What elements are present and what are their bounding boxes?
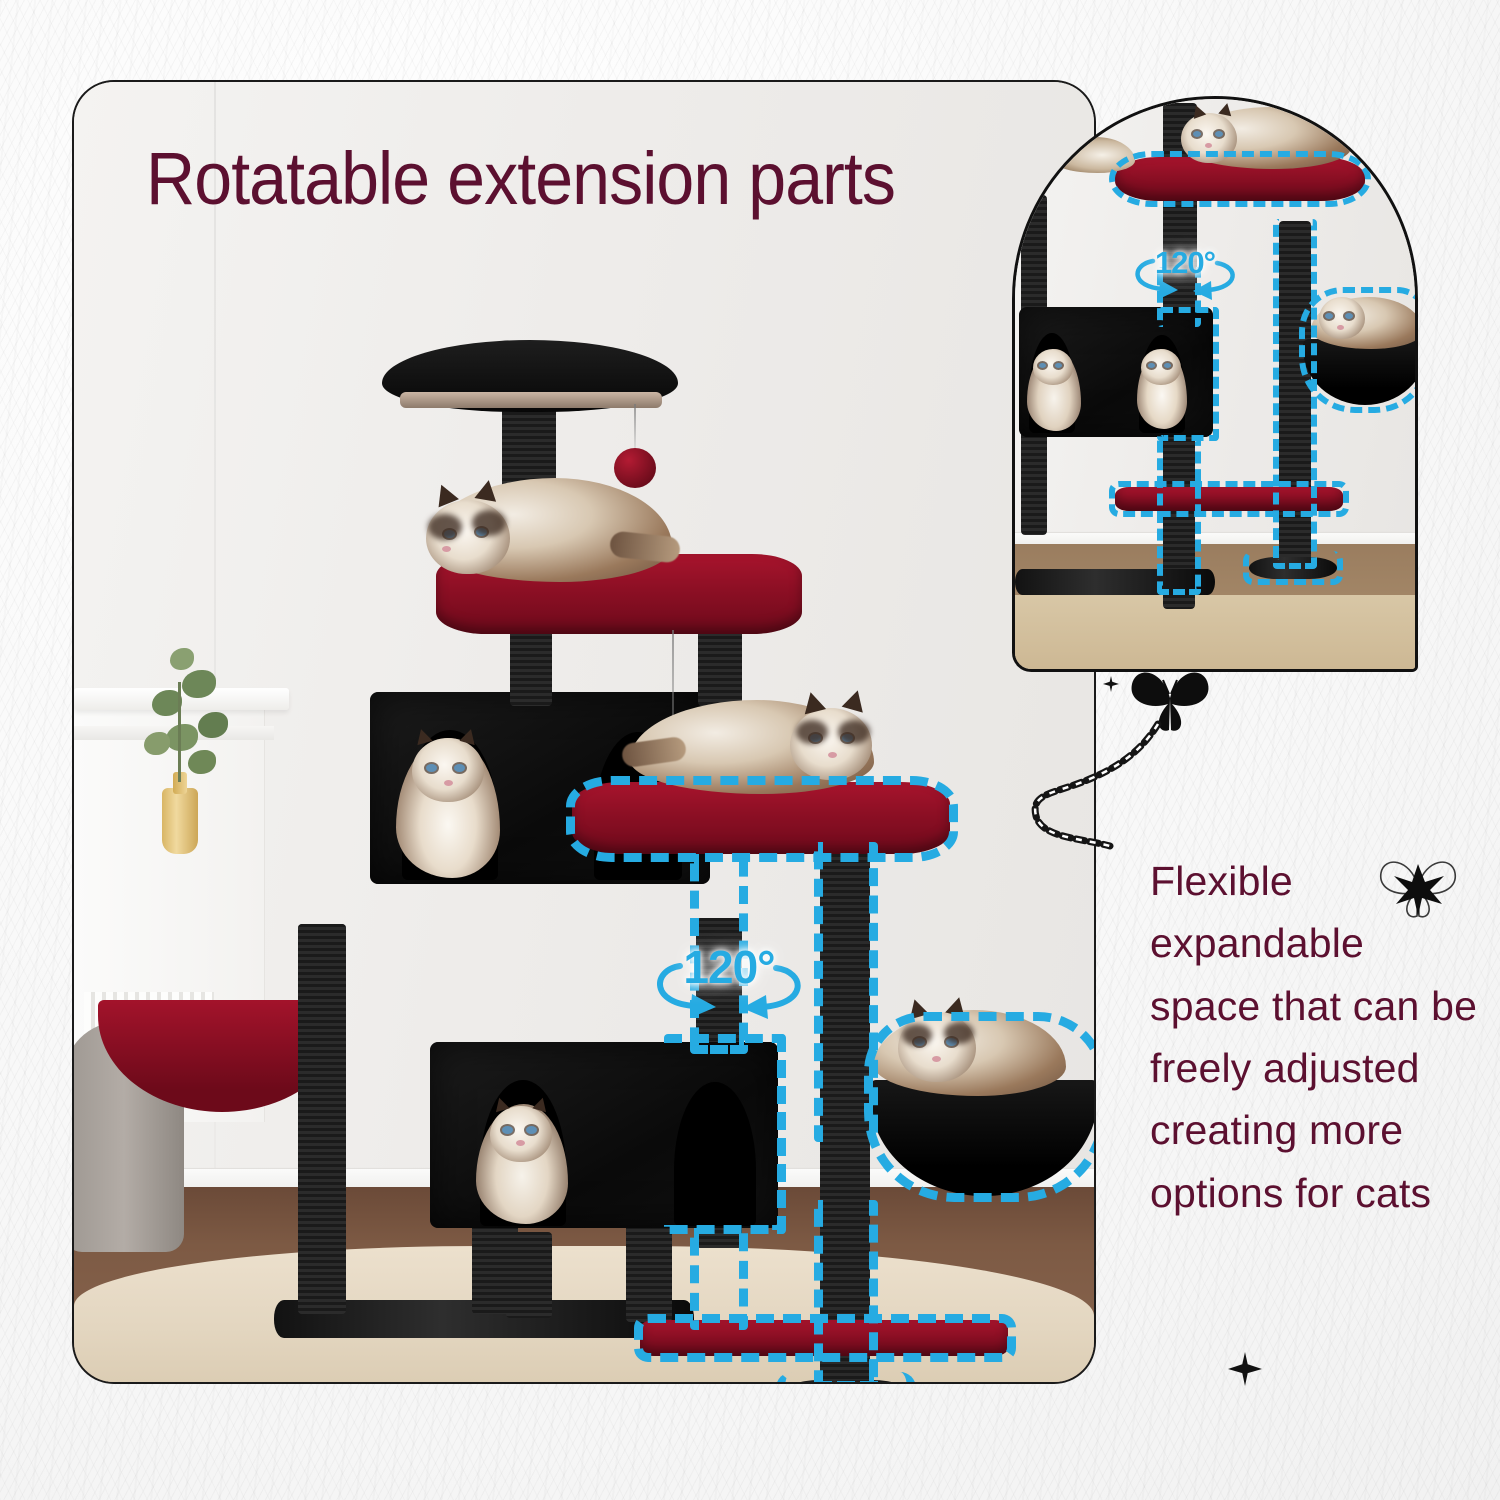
rotation-badge-inset: 120° [1121, 247, 1249, 301]
feature-text-line: freely adjusted [1150, 1037, 1480, 1099]
hero-panel: 120° Rotatable extension parts [72, 80, 1096, 1384]
rotation-badge-label-inset: 120° [1121, 245, 1249, 281]
feature-text-line: expandable [1150, 912, 1480, 974]
feature-text-line: space that can be [1150, 975, 1480, 1037]
feature-text-line: options for cats [1150, 1162, 1480, 1224]
cat-top-platform [428, 478, 672, 582]
chain-link-path [1000, 720, 1180, 850]
highlight-right-post-base [776, 1372, 916, 1384]
feature-text-line: Flexible [1150, 850, 1480, 912]
inset-highlight-right-post [1273, 219, 1317, 569]
inset-detail-panel: 120° [1012, 96, 1418, 672]
highlight-right-post-lower [814, 1200, 878, 1384]
feature-text-block: Flexible expandable space that can be fr… [1150, 850, 1480, 1224]
inset-highlight-condo-right [1157, 307, 1219, 441]
highlight-black-hammock [864, 1012, 1096, 1202]
gold-vase [162, 788, 198, 854]
cat-lower-condo [476, 1104, 568, 1224]
rotation-badge-main: 120° [634, 944, 824, 1020]
top-bowl-board [400, 392, 662, 408]
toy-string [634, 404, 636, 452]
cat-upper-condo [396, 738, 500, 878]
inset-highlight-red-platform-top [1109, 151, 1371, 207]
inset-cat-condo [1027, 349, 1081, 431]
highlight-red-platform-middle [566, 776, 958, 862]
inset-highlight-right-base [1243, 551, 1343, 585]
scratching-post-center-lower [506, 1232, 552, 1318]
scratching-post-hammock-left [298, 924, 346, 1314]
rotation-badge-label: 120° [634, 940, 824, 994]
inset-rug [1015, 595, 1415, 669]
highlight-lower-condo-right [664, 1034, 786, 1234]
feature-text-line: creating more [1150, 1099, 1480, 1161]
page-title: Rotatable extension parts [146, 136, 895, 221]
